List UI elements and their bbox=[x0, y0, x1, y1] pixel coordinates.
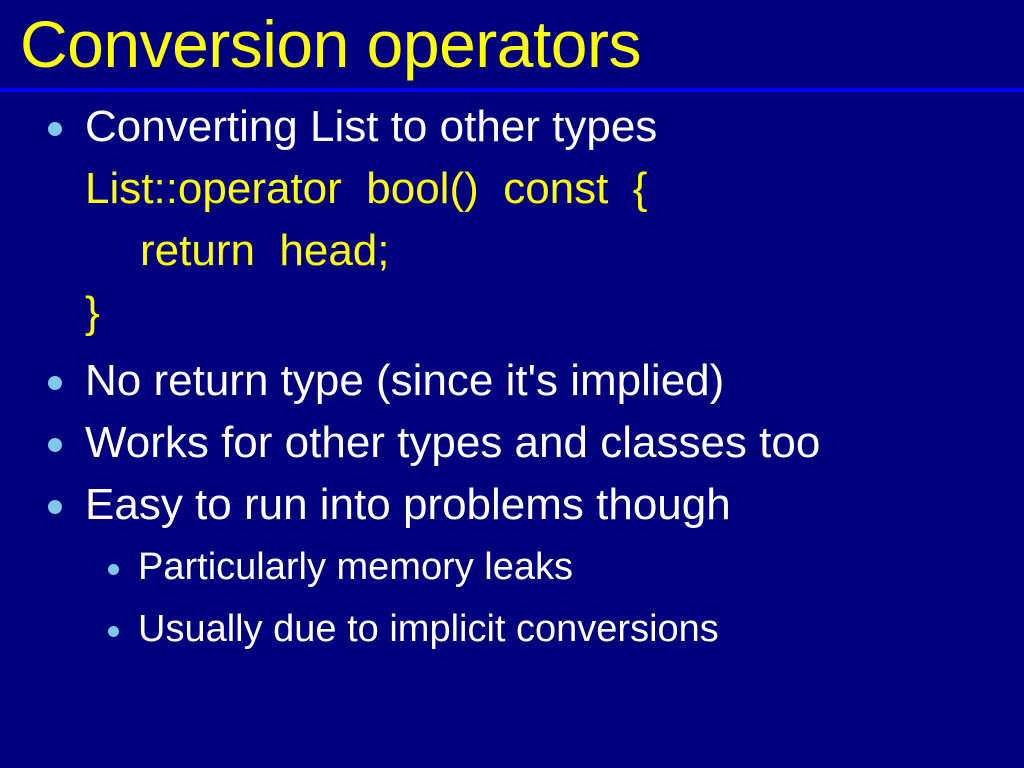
slide-body: Converting List to other types List::ope… bbox=[0, 96, 1024, 768]
sub-list-item-label: Usually due to implicit conversions bbox=[138, 598, 1024, 660]
bullet-dot-icon bbox=[48, 122, 62, 136]
list-item: Converting List to other types bbox=[0, 96, 1024, 158]
bullet-dot-icon bbox=[108, 626, 119, 637]
sub-list-item: Usually due to implicit conversions bbox=[0, 598, 1024, 660]
code-line: } bbox=[0, 282, 1024, 344]
list-item: Works for other types and classes too bbox=[0, 412, 1024, 474]
list-item-label: Easy to run into problems though bbox=[85, 474, 1024, 536]
code-line: List::operator bool() const { bbox=[0, 158, 1024, 220]
bullet-dot-icon bbox=[48, 376, 62, 390]
list-item-label: Works for other types and classes too bbox=[85, 412, 1024, 474]
list-item: Easy to run into problems though bbox=[0, 474, 1024, 536]
list-item: No return type (since it's implied) bbox=[0, 350, 1024, 412]
slide-title-band: Conversion operators bbox=[0, 0, 1024, 88]
code-line: return head; bbox=[0, 220, 1024, 282]
sub-list-item: Particularly memory leaks bbox=[0, 536, 1024, 598]
sub-list-item-label: Particularly memory leaks bbox=[138, 536, 1024, 598]
title-divider-rule bbox=[0, 88, 1024, 92]
slide: Conversion operators Converting List to … bbox=[0, 0, 1024, 768]
bullet-dot-icon bbox=[48, 438, 62, 452]
bullet-dot-icon bbox=[108, 564, 119, 575]
list-item-label: Converting List to other types bbox=[85, 96, 1024, 158]
list-item-label: No return type (since it's implied) bbox=[85, 350, 1024, 412]
bullet-dot-icon bbox=[48, 500, 62, 514]
page-title: Conversion operators bbox=[20, 6, 641, 82]
